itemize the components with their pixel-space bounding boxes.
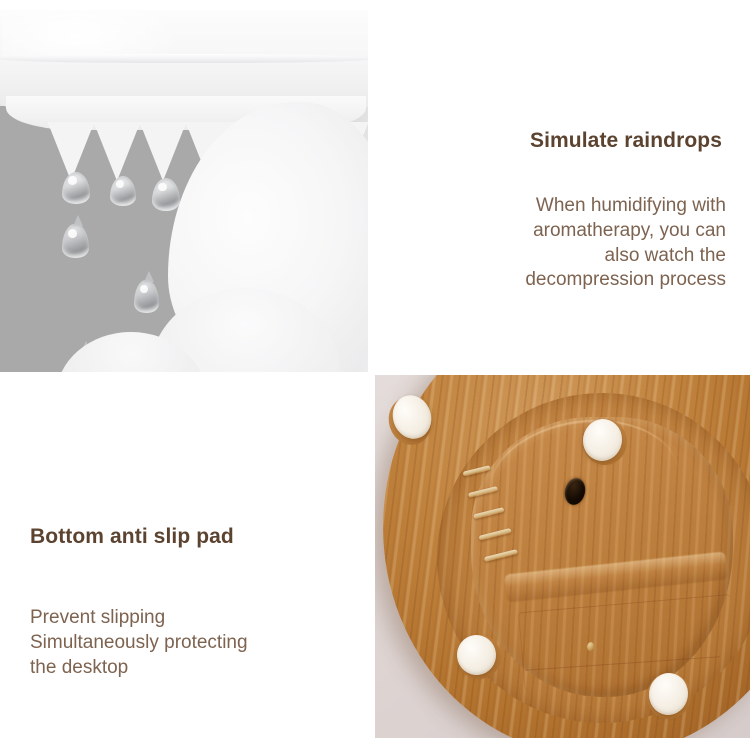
vent-slot: [468, 486, 498, 498]
feature-heading: Simulate raindrops: [392, 128, 736, 154]
feature-body: Prevent slipping Simultaneously protecti…: [30, 606, 360, 680]
feature-text-simulate-raindrops: Simulate raindrops When humidifying with…: [392, 128, 736, 293]
vent-slot: [484, 549, 518, 562]
bowl-rim-line: [0, 54, 368, 63]
vent-slot: [479, 528, 512, 541]
bowl-highlight: [2, 10, 182, 58]
wood-base-photo: [375, 375, 750, 738]
feature-body: When humidifying with aromatherapy, you …: [392, 194, 736, 293]
rim-tooth: [48, 122, 94, 180]
raindrop-photo: [0, 10, 368, 372]
feature-text-bottom-anti-slip-pad: Bottom anti slip pad Prevent slipping Si…: [30, 524, 360, 680]
product-feature-collage: Simulate raindrops When humidifying with…: [0, 0, 750, 750]
vent-slot: [473, 507, 504, 519]
rim-tooth: [94, 122, 140, 180]
rim-tooth: [140, 122, 186, 180]
feature-heading: Bottom anti slip pad: [30, 524, 360, 550]
